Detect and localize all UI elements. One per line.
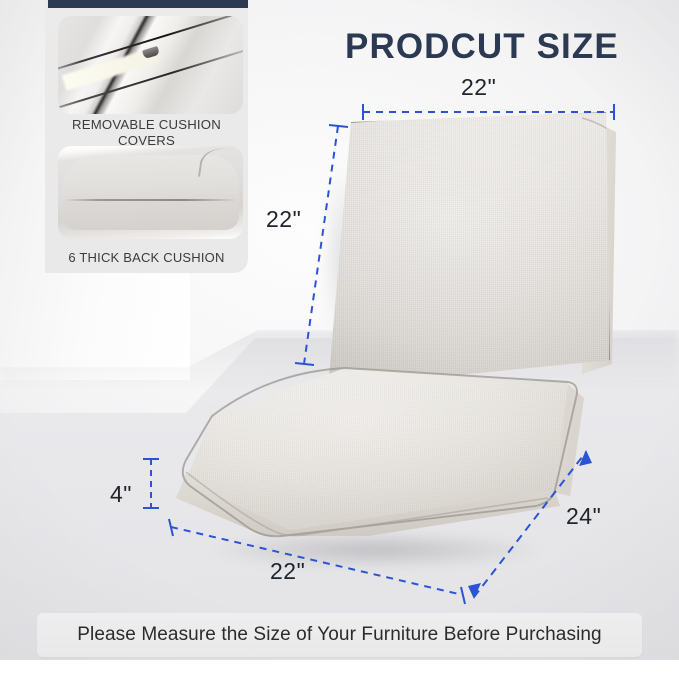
- back-cushion-closeup-photo: [58, 146, 243, 239]
- dimension-label-seat-width: 22": [270, 558, 305, 585]
- inset-panel-top-accent-bar: [48, 0, 248, 8]
- closeup-cushion-corner-arc: [198, 146, 243, 183]
- feature-caption-thick-back-cushion: 6 THICK BACK CUSHION: [45, 250, 248, 266]
- dimension-label-back-width: 22": [461, 74, 496, 101]
- advisory-banner: Please Measure the Size of Your Furnitur…: [37, 613, 642, 657]
- dimension-label-back-height: 22": [266, 206, 301, 233]
- product-size-infographic: 22" 22" 4" 22" 24" PRODCUT SIZE REMOVABL…: [0, 0, 679, 679]
- dimension-label-seat-thickness: 4": [110, 481, 132, 508]
- zipper-closeup-photo: [58, 16, 243, 114]
- zipper-teeth-line: [58, 16, 243, 74]
- page-title: PRODCUT SIZE: [345, 27, 619, 67]
- closeup-cushion-seam: [64, 199, 238, 201]
- dimension-label-seat-depth: 24": [566, 503, 601, 530]
- bottom-white-margin: [0, 660, 679, 679]
- feature-caption-removable-covers: REMOVABLE CUSHION COVERS: [45, 117, 248, 149]
- advisory-banner-text: Please Measure the Size of Your Furnitur…: [77, 624, 601, 646]
